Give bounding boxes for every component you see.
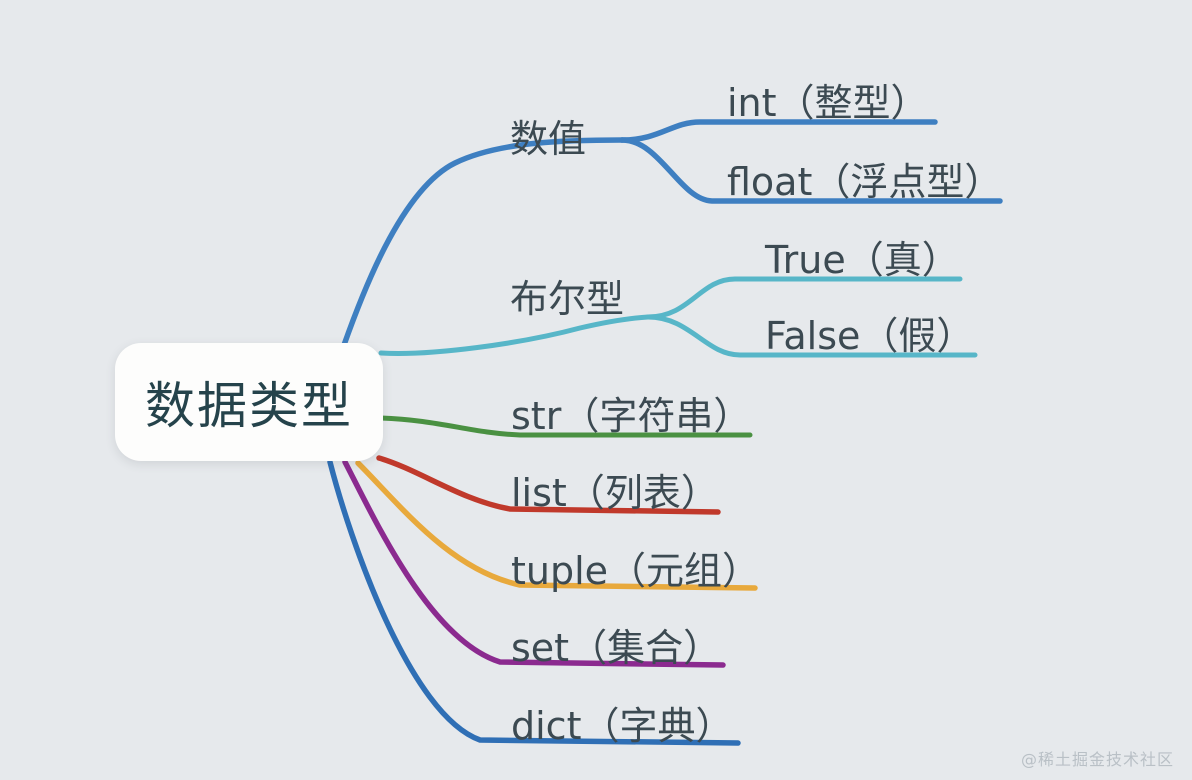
node-label-set[interactable]: set（集合） (511, 617, 721, 672)
node-label-true[interactable]: True（真） (765, 229, 960, 284)
root-node[interactable]: 数据类型 (115, 343, 383, 461)
mindmap-canvas: 数据类型 数值 int（整型） float（浮点型） 布尔型 True（真） F… (0, 0, 1192, 780)
root-node-label: 数据类型 (145, 366, 353, 438)
node-label-false[interactable]: False（假） (765, 305, 974, 360)
node-label-dict[interactable]: dict（字典） (511, 695, 733, 750)
node-label-numeric[interactable]: 数值 (510, 108, 586, 163)
node-label-tuple[interactable]: tuple（元组） (511, 540, 760, 595)
node-label-boolean[interactable]: 布尔型 (510, 268, 624, 323)
node-label-str[interactable]: str（字符串） (511, 385, 751, 440)
watermark: @稀土掘金技术社区 (1021, 746, 1174, 770)
node-label-float[interactable]: float（浮点型） (727, 151, 1002, 206)
node-label-list[interactable]: list（列表） (511, 462, 719, 517)
node-label-int[interactable]: int（整型） (727, 72, 929, 127)
